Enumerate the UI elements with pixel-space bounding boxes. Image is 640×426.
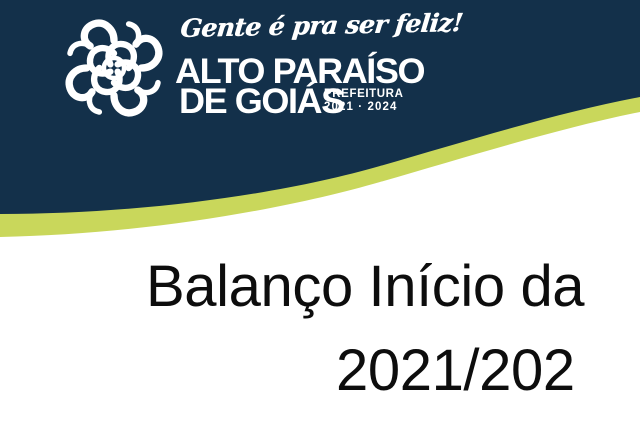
main-title-line-2: 2021/202 bbox=[336, 342, 575, 400]
badge-term-label: 2021 · 2024 bbox=[324, 101, 420, 114]
brand-tagline: Gente é pra ser feliz! bbox=[179, 8, 464, 43]
badge-organization-label: PREFEITURA bbox=[324, 88, 420, 101]
city-wordmark: Gente é pra ser feliz! ALTO PARAÍSO DE G… bbox=[174, 10, 474, 125]
main-title-block: Balanço Início da 2021/202 bbox=[0, 248, 640, 426]
banner-canvas: Gente é pra ser feliz! ALTO PARAÍSO DE G… bbox=[0, 0, 640, 426]
main-title-line-1: Balanço Início da bbox=[146, 258, 584, 316]
prefeitura-term-badge: PREFEITURA 2021 · 2024 bbox=[324, 88, 420, 114]
alto-paraiso-floral-mandala-emblem bbox=[58, 13, 170, 123]
brand-lockup: Gente é pra ser feliz! ALTO PARAÍSO DE G… bbox=[0, 0, 640, 140]
city-name-line-2: DE GOIÁS bbox=[179, 84, 344, 119]
